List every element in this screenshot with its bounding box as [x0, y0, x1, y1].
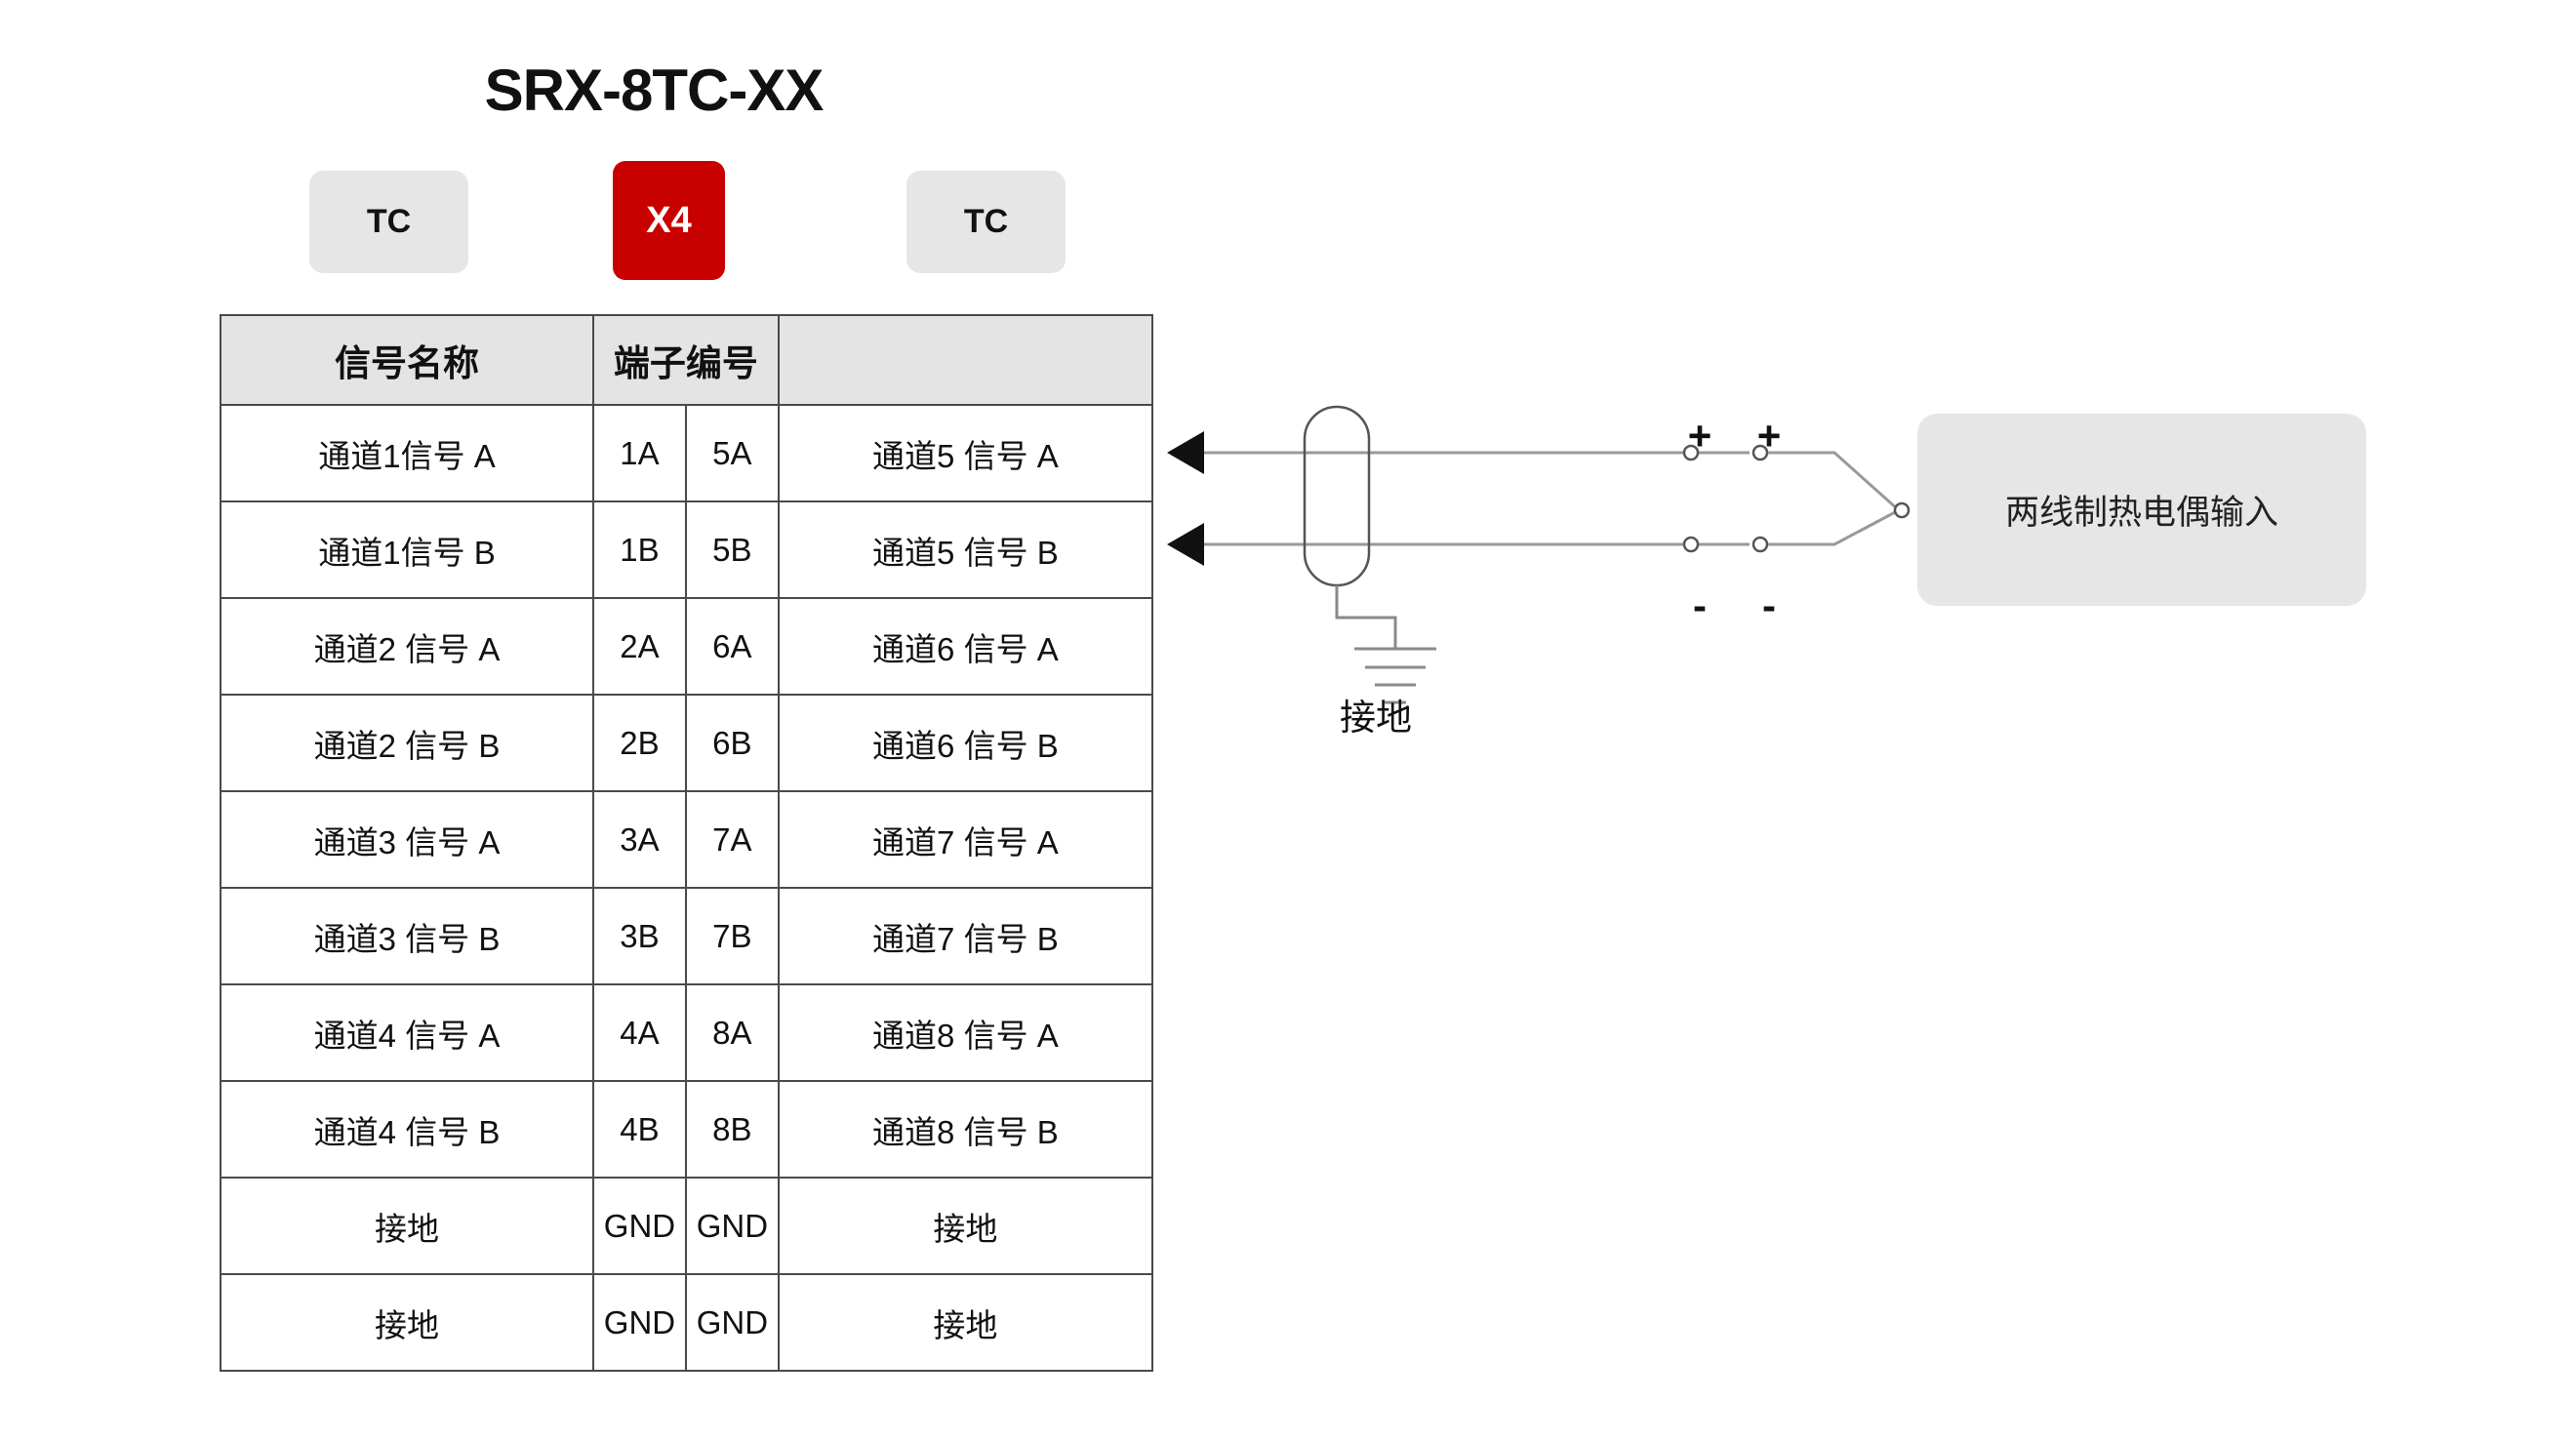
cell-signal-right: 通道6 信号 B: [779, 695, 1152, 791]
table-row: 通道2 信号 A2A6A通道6 信号 A: [221, 598, 1152, 695]
cell-terminal-right: 7B: [686, 888, 779, 984]
cell-signal-right: 通道8 信号 B: [779, 1081, 1152, 1178]
cell-terminal-left: 3B: [593, 888, 686, 984]
cell-terminal-left: GND: [593, 1274, 686, 1371]
table-row: 接地GNDGND接地: [221, 1274, 1152, 1371]
table-body: 通道1信号 A1A5A通道5 信号 A通道1信号 B1B5B通道5 信号 B通道…: [221, 405, 1152, 1371]
cell-signal-left: 通道3 信号 A: [221, 791, 593, 888]
ground-label: 接地: [1268, 688, 1483, 740]
cell-terminal-left: 2B: [593, 695, 686, 791]
header-signal-name: 信号名称: [221, 315, 593, 405]
cell-terminal-right: GND: [686, 1178, 779, 1274]
table-row: 通道1信号 A1A5A通道5 信号 A: [221, 405, 1152, 501]
lead-plus-to-junction: [1768, 453, 1899, 510]
badge-tc-left: TC: [309, 171, 468, 273]
polarity-minus-outer: -: [1750, 585, 1789, 626]
cell-terminal-left: 2A: [593, 598, 686, 695]
badge-tc-right-label: TC: [964, 203, 1008, 241]
cell-signal-left: 通道1信号 A: [221, 405, 593, 501]
cell-terminal-left: 4A: [593, 984, 686, 1081]
lead-minus-to-junction: [1768, 510, 1899, 544]
cell-terminal-left: 1B: [593, 501, 686, 598]
table-row: 通道3 信号 A3A7A通道7 信号 A: [221, 791, 1152, 888]
cell-signal-left: 通道4 信号 A: [221, 984, 593, 1081]
cell-signal-right: 通道7 信号 A: [779, 791, 1152, 888]
header-blank: [779, 315, 1152, 405]
table-row: 通道4 信号 B4B8B通道8 信号 B: [221, 1081, 1152, 1178]
header-terminal-number: 端子编号: [593, 315, 779, 405]
badge-x4-label: X4: [646, 200, 691, 242]
cell-signal-right: 通道7 信号 B: [779, 888, 1152, 984]
table-row: 接地GNDGND接地: [221, 1178, 1152, 1274]
table-row: 通道2 信号 B2B6B通道6 信号 B: [221, 695, 1152, 791]
cell-signal-left: 接地: [221, 1274, 593, 1371]
thermocouple-junction: [1895, 503, 1909, 517]
page-title: SRX-8TC-XX: [429, 57, 878, 124]
cell-signal-left: 通道2 信号 B: [221, 695, 593, 791]
polarity-minus-inner: -: [1680, 585, 1719, 626]
cell-terminal-right: 5A: [686, 405, 779, 501]
table-header: 信号名称 端子编号: [221, 315, 1152, 405]
polarity-plus-outer: +: [1750, 416, 1789, 457]
diagram-canvas: SRX-8TC-XX TC X4 TC 信号名称 端子编号 通道1信号 A1A5…: [0, 0, 2576, 1440]
input-type-label: 两线制热电偶输入: [2005, 485, 2278, 535]
input-type-box: 两线制热电偶输入: [1917, 414, 2366, 606]
cell-signal-right: 接地: [779, 1274, 1152, 1371]
cell-signal-left: 接地: [221, 1178, 593, 1274]
cell-signal-left: 通道1信号 B: [221, 501, 593, 598]
pinout-table: 信号名称 端子编号 通道1信号 A1A5A通道5 信号 A通道1信号 B1B5B…: [220, 314, 1153, 1372]
badge-x4: X4: [613, 161, 725, 280]
cell-signal-left: 通道4 信号 B: [221, 1081, 593, 1178]
cell-signal-left: 通道2 信号 A: [221, 598, 593, 695]
cell-signal-right: 通道5 信号 A: [779, 405, 1152, 501]
badge-tc-right: TC: [906, 171, 1066, 273]
cell-signal-right: 通道5 信号 B: [779, 501, 1152, 598]
arrow-head-top-icon: [1167, 431, 1204, 474]
cell-terminal-right: 5B: [686, 501, 779, 598]
cell-signal-right: 通道6 信号 A: [779, 598, 1152, 695]
cell-signal-left: 通道3 信号 B: [221, 888, 593, 984]
cell-terminal-left: GND: [593, 1178, 686, 1274]
table-row: 通道1信号 B1B5B通道5 信号 B: [221, 501, 1152, 598]
table-row: 通道4 信号 A4A8A通道8 信号 A: [221, 984, 1152, 1081]
cell-terminal-right: 8A: [686, 984, 779, 1081]
arrow-head-bottom-icon: [1167, 523, 1204, 566]
cell-terminal-right: 6B: [686, 695, 779, 791]
table-header-row: 信号名称 端子编号: [221, 315, 1152, 405]
terminal-inner-minus: [1684, 538, 1698, 551]
cell-terminal-right: GND: [686, 1274, 779, 1371]
terminal-outer-minus: [1753, 538, 1767, 551]
table-row: 通道3 信号 B3B7B通道7 信号 B: [221, 888, 1152, 984]
cable-shield-icon: [1305, 407, 1369, 585]
cell-signal-right: 通道8 信号 A: [779, 984, 1152, 1081]
shield-drain-wire: [1337, 585, 1395, 649]
cell-signal-right: 接地: [779, 1178, 1152, 1274]
cell-terminal-right: 6A: [686, 598, 779, 695]
badge-tc-left-label: TC: [367, 203, 411, 241]
cell-terminal-right: 7A: [686, 791, 779, 888]
cell-terminal-left: 4B: [593, 1081, 686, 1178]
cell-terminal-left: 1A: [593, 405, 686, 501]
polarity-plus-inner: +: [1680, 416, 1719, 457]
cell-terminal-left: 3A: [593, 791, 686, 888]
cell-terminal-right: 8B: [686, 1081, 779, 1178]
